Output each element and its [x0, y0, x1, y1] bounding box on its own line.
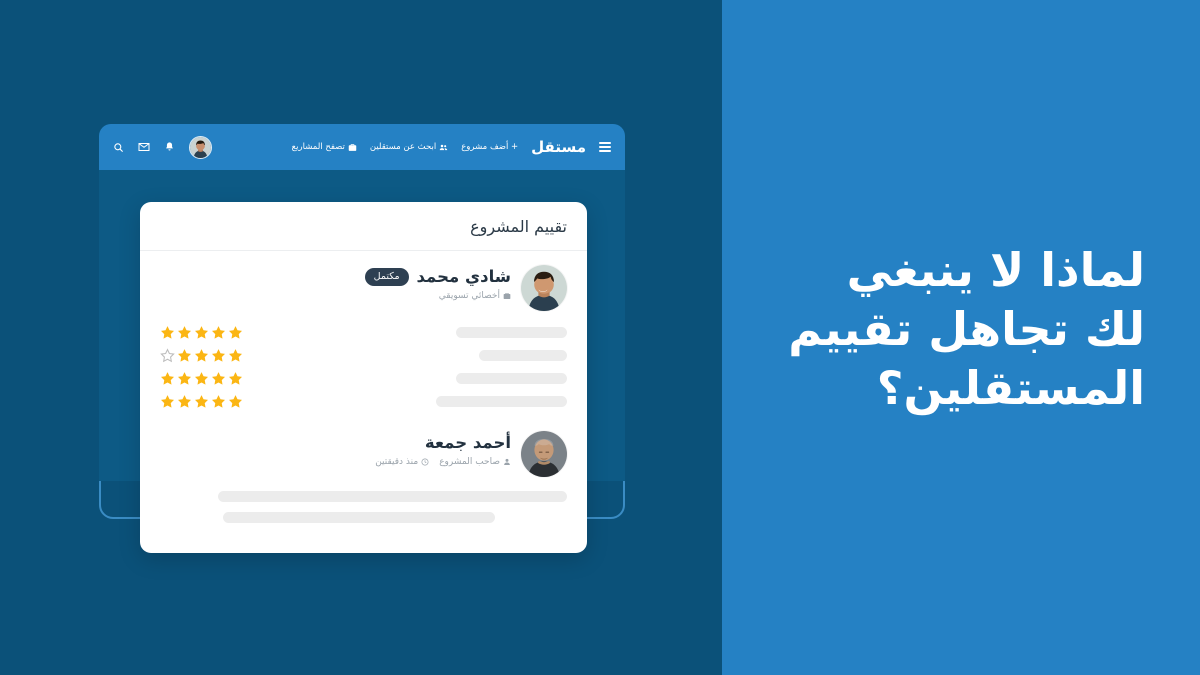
reviewer-role-label: صاحب المشروع	[439, 457, 500, 467]
rating-label-placeholder	[456, 327, 567, 338]
reviewer-role: أخصائي تسويقي	[439, 291, 511, 301]
review-meta: أحمد جمعة صاحب المشروع	[375, 431, 511, 467]
nav-item-browse-projects-label: تصفح المشاريع	[292, 142, 345, 152]
rating-row	[160, 348, 567, 363]
star-filled-icon	[211, 325, 226, 340]
review-meta: شادي محمد مكتمل أخصائي تسويقي	[365, 265, 511, 301]
rating-row	[160, 371, 567, 386]
card-body: شادي محمد مكتمل أخصائي تسويقي	[140, 251, 587, 523]
project-review-card: تقييم المشروع شادي محمد	[140, 202, 587, 553]
nav-item-find-freelancers-label: ابحث عن مستقلين	[370, 142, 436, 152]
star-filled-icon	[160, 325, 175, 340]
reviewer-name-row: شادي محمد مكتمل	[365, 267, 511, 286]
star-filled-icon	[194, 348, 209, 363]
search-icon[interactable]	[113, 142, 124, 153]
nav-item-add-project[interactable]: + أضف مشروع	[461, 142, 518, 152]
person-icon	[503, 458, 511, 466]
star-filled-icon	[194, 394, 209, 409]
hamburger-icon[interactable]	[599, 142, 611, 152]
briefcase-icon	[503, 292, 511, 300]
site-logo[interactable]: مستقل	[531, 138, 586, 156]
bell-icon[interactable]	[164, 141, 175, 153]
avatar[interactable]	[521, 431, 567, 477]
star-empty-icon	[160, 348, 175, 363]
nav-item-browse-projects[interactable]: تصفح المشاريع	[292, 142, 357, 152]
rating-row	[160, 325, 567, 340]
star-filled-icon	[211, 394, 226, 409]
rating-label-placeholder	[456, 373, 567, 384]
nav-item-add-project-label: + أضف مشروع	[461, 142, 518, 152]
star-filled-icon	[228, 394, 243, 409]
star-filled-icon	[160, 371, 175, 386]
review-item-freelancer: شادي محمد مكتمل أخصائي تسويقي	[160, 265, 567, 311]
page-title: تقييم المشروع	[470, 217, 567, 236]
review-timestamp: منذ دقيقتين	[375, 457, 429, 467]
navbar-right-group: مستقل + أضف مشروع ابحث عن مستقلين	[292, 138, 611, 156]
star-filled-icon	[177, 348, 192, 363]
slide-canvas: لماذا لا ينبغي لك تجاهل تقييم المستقلين؟…	[0, 0, 1200, 675]
star-filled-icon	[211, 348, 226, 363]
card-header: تقييم المشروع	[140, 202, 587, 251]
review-item-client: أحمد جمعة صاحب المشروع	[160, 431, 567, 477]
clock-icon	[421, 458, 429, 466]
ratings-list	[160, 325, 567, 409]
people-icon	[439, 143, 448, 152]
star-filled-icon	[228, 348, 243, 363]
headline-text: لماذا لا ينبغي لك تجاهل تقييم المستقلين؟	[751, 241, 1171, 418]
star-filled-icon	[177, 394, 192, 409]
star-rating[interactable]	[160, 371, 243, 386]
star-filled-icon	[228, 371, 243, 386]
text-line-placeholder	[218, 491, 567, 502]
rating-label-placeholder	[479, 350, 567, 361]
text-line-placeholder	[223, 512, 495, 523]
rating-row	[160, 394, 567, 409]
user-avatar[interactable]	[189, 136, 212, 159]
star-rating[interactable]	[160, 325, 243, 340]
star-filled-icon	[228, 325, 243, 340]
star-filled-icon	[160, 394, 175, 409]
reviewer-name[interactable]: شادي محمد	[417, 267, 511, 286]
site-navbar: مستقل + أضف مشروع ابحث عن مستقلين	[99, 124, 625, 170]
reviewer-role: صاحب المشروع	[439, 457, 511, 467]
nav-item-find-freelancers[interactable]: ابحث عن مستقلين	[370, 142, 448, 152]
avatar[interactable]	[521, 265, 567, 311]
star-filled-icon	[194, 325, 209, 340]
reviewer-name-row: أحمد جمعة	[375, 433, 511, 452]
headline-panel: لماذا لا ينبغي لك تجاهل تقييم المستقلين؟	[722, 0, 1200, 675]
review-text-placeholder	[160, 491, 567, 523]
star-filled-icon	[177, 371, 192, 386]
briefcase-icon	[348, 143, 357, 152]
star-rating[interactable]	[160, 394, 243, 409]
review-timestamp-label: منذ دقيقتين	[375, 457, 418, 467]
star-filled-icon	[211, 371, 226, 386]
reviewer-role-label: أخصائي تسويقي	[439, 291, 500, 301]
reviewer-subtitle-row: صاحب المشروع منذ دقيقتين	[375, 457, 511, 467]
avatar-image	[190, 137, 211, 158]
navbar-left-group	[113, 136, 212, 159]
status-badge: مكتمل	[365, 268, 409, 286]
mail-icon[interactable]	[138, 141, 150, 153]
client-avatar-image	[521, 431, 567, 477]
star-filled-icon	[194, 371, 209, 386]
rating-label-placeholder	[436, 396, 567, 407]
reviewer-name[interactable]: أحمد جمعة	[425, 433, 511, 452]
star-rating[interactable]	[160, 348, 243, 363]
star-filled-icon	[177, 325, 192, 340]
freelancer-avatar-image	[521, 265, 567, 311]
reviewer-subtitle-row: أخصائي تسويقي	[365, 291, 511, 301]
